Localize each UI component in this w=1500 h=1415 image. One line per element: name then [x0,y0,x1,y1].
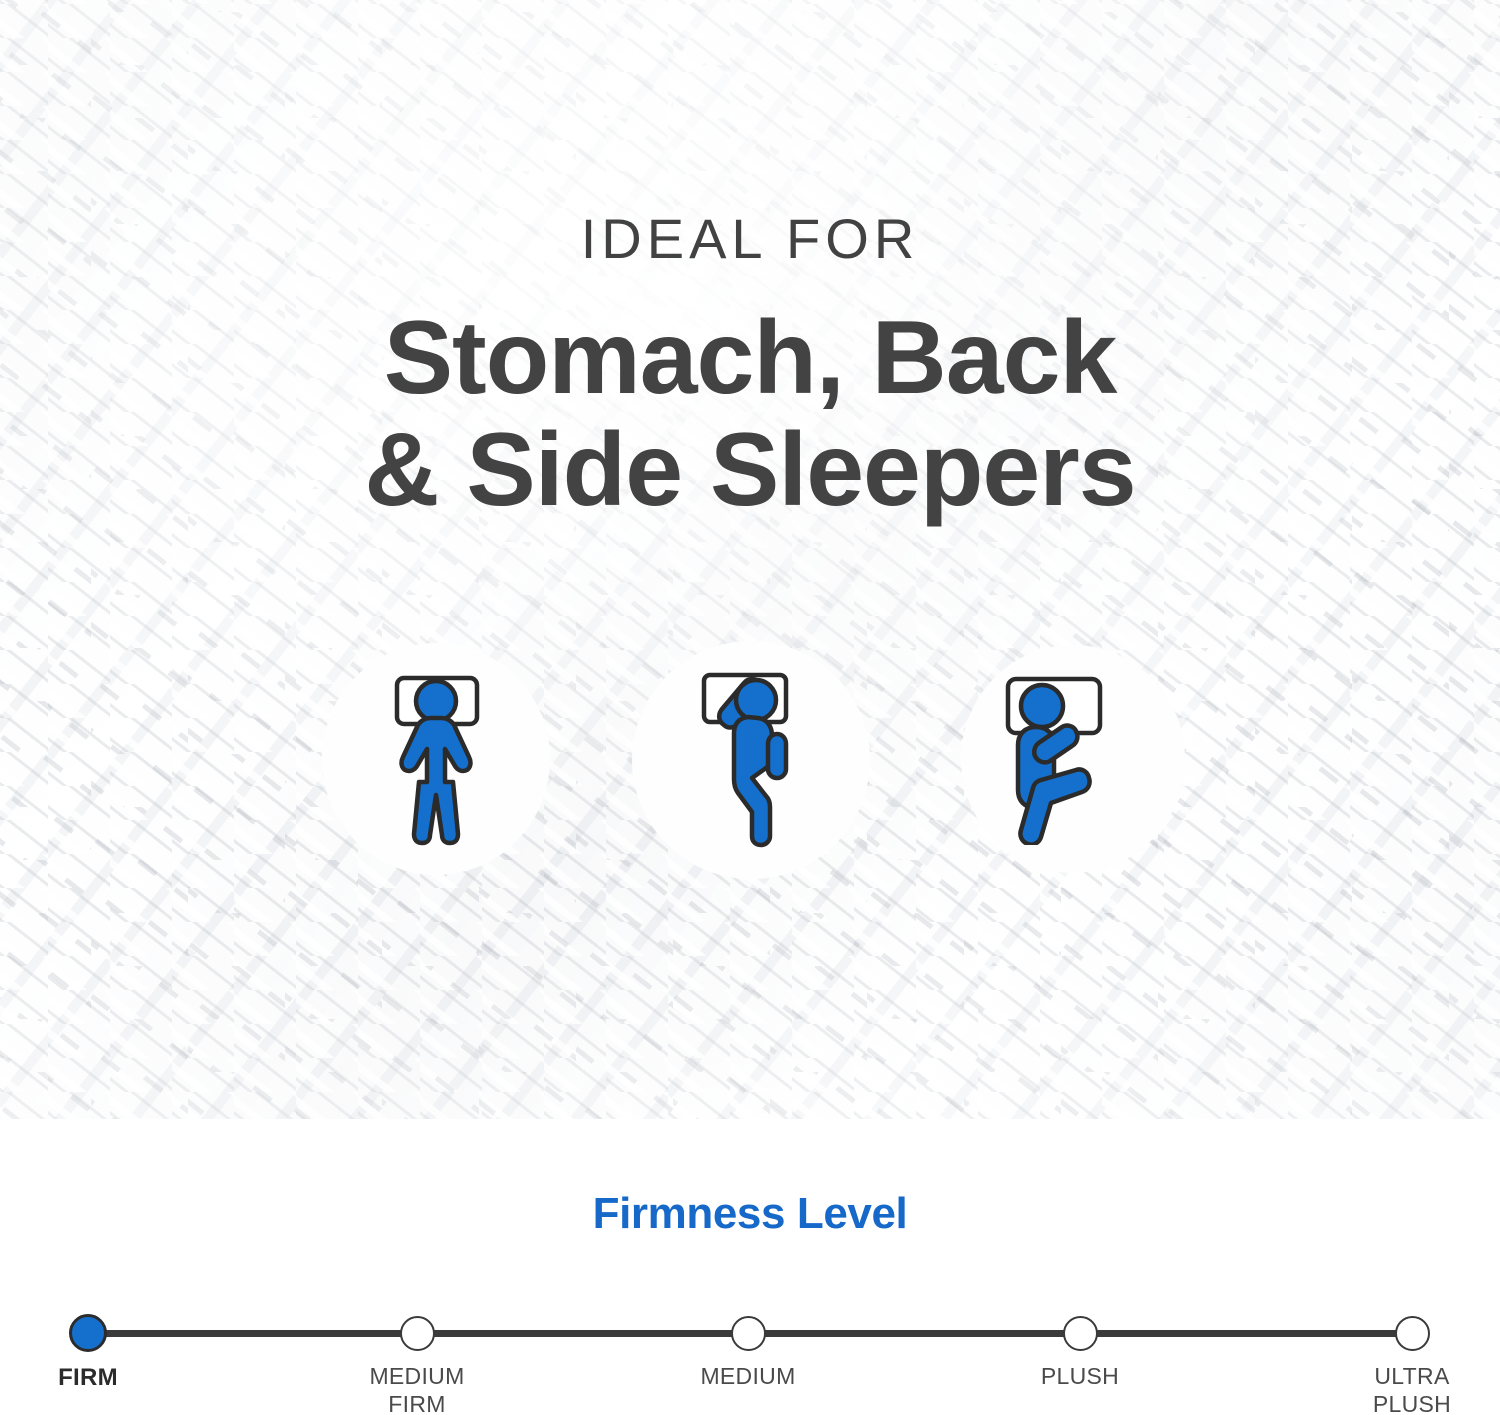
firmness-label-ultra-plush-line2: PLUSH [1312,1390,1500,1415]
firmness-scale[interactable]: FIRM MEDIUM FIRM MEDIUM PLUSH [0,1299,1500,1415]
firmness-dot-firm[interactable] [69,1314,107,1352]
sleeper-icon-back [322,643,550,875]
firmness-stop-ultra-plush[interactable]: ULTRA PLUSH [1312,1299,1500,1415]
person-lying-on-side-icon [676,670,826,850]
firmness-label-medium-firm: MEDIUM FIRM [317,1362,517,1415]
firmness-dot-medium[interactable] [731,1316,766,1351]
firmness-label-medium-firm-line1: MEDIUM [369,1363,464,1389]
firmness-label-firm-line1: FIRM [58,1364,118,1391]
firmness-label-firm: FIRM [0,1363,188,1392]
page-title-line-1: Stomach, Back [0,302,1500,414]
firmness-stop-medium[interactable]: MEDIUM [648,1299,848,1390]
product-feature-card: IDEAL FOR Stomach, Back & Side Sleepers [0,0,1500,1415]
firmness-dot-plush[interactable] [1063,1316,1098,1351]
firmness-dot-medium-firm[interactable] [400,1316,435,1351]
firmness-title: Firmness Level [0,1189,1500,1239]
hero-text-block: IDEAL FOR Stomach, Back & Side Sleepers [0,0,1500,527]
firmness-label-medium-line1: MEDIUM [700,1363,795,1389]
firmness-label-plush: PLUSH [980,1362,1180,1390]
hero-section: IDEAL FOR Stomach, Back & Side Sleepers [0,0,1500,1119]
person-lying-on-stomach-icon [998,673,1148,845]
firmness-label-ultra-plush: ULTRA PLUSH [1312,1362,1500,1415]
firmness-stop-plush[interactable]: PLUSH [980,1299,1180,1390]
page-title-line-2: & Side Sleepers [0,414,1500,526]
firmness-label-ultra-plush-line1: ULTRA [1374,1363,1449,1389]
sleeper-icon-side [632,641,870,879]
sleeper-icon-stomach [961,645,1185,873]
page-title: Stomach, Back & Side Sleepers [0,302,1500,527]
firmness-stop-firm[interactable]: FIRM [0,1299,188,1392]
firmness-label-medium: MEDIUM [648,1362,848,1390]
eyebrow-label: IDEAL FOR [0,211,1500,267]
firmness-label-medium-firm-line2: FIRM [317,1390,517,1415]
firmness-stop-medium-firm[interactable]: MEDIUM FIRM [317,1299,517,1415]
person-lying-on-back-icon [360,671,512,847]
firmness-section: Firmness Level FIRM MEDIUM FIRM MEDIU [0,1119,1500,1415]
firmness-label-plush-line1: PLUSH [1041,1363,1119,1389]
firmness-dot-ultra-plush[interactable] [1395,1316,1430,1351]
sleeper-position-icons [0,643,1500,883]
